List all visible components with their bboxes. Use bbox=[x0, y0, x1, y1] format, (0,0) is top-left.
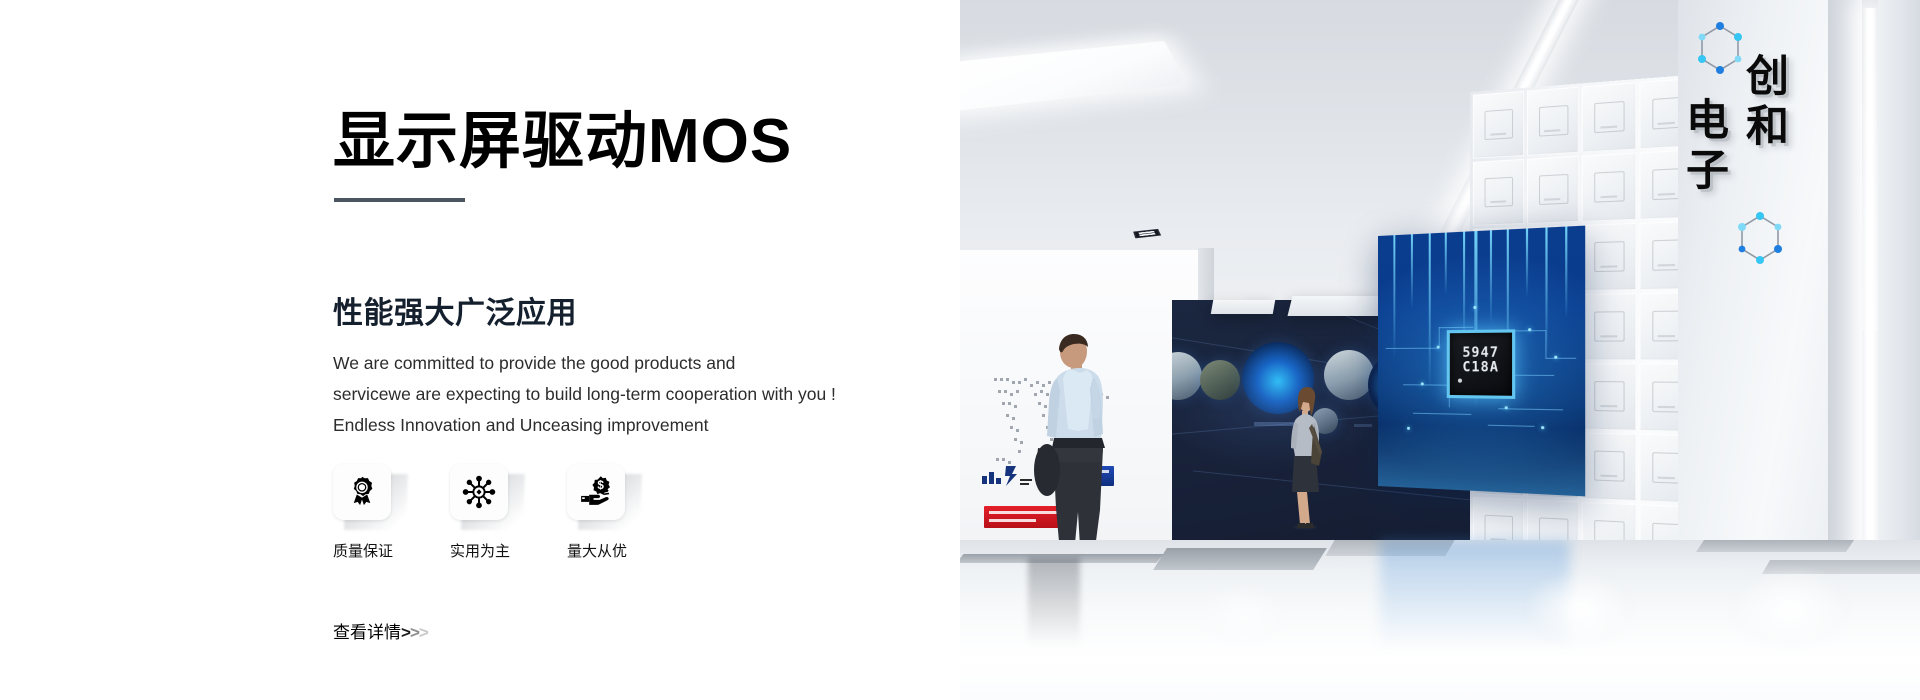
chevron-1-icon: > bbox=[401, 622, 410, 644]
left-text-panel: 显示屏驱动MOS 性能强大广泛应用 We are committed to pr… bbox=[0, 0, 960, 700]
feature-icon-tile bbox=[333, 464, 409, 526]
businessman-figure bbox=[1016, 330, 1120, 572]
feature-item-practical[interactable]: 实用为主 bbox=[450, 464, 567, 562]
chip-graphic: 5947 C18A bbox=[1447, 329, 1515, 399]
module-cell bbox=[1526, 87, 1578, 156]
signage-char: 子 bbox=[1686, 146, 1729, 196]
floor-reflection-person bbox=[1028, 558, 1080, 646]
molecule-hex-icon bbox=[1694, 18, 1746, 80]
businesswoman-figure bbox=[1282, 386, 1328, 531]
view-details-link[interactable]: 查看详情>>> bbox=[333, 622, 428, 644]
hand-money-icon: $ bbox=[567, 464, 625, 520]
module-cell bbox=[1526, 156, 1578, 224]
network-hub-icon bbox=[450, 464, 508, 520]
feature-icon-tile: $ bbox=[567, 464, 643, 526]
feature-label: 实用为主 bbox=[450, 542, 567, 562]
recessed-spotlight bbox=[1133, 229, 1161, 239]
skylight-panel-light bbox=[960, 41, 1188, 111]
svg-text:$: $ bbox=[597, 479, 604, 492]
feature-list: 质量保证 bbox=[333, 464, 684, 562]
view-details-label: 查看详情 bbox=[333, 622, 401, 644]
chip-pin-marker bbox=[1458, 378, 1462, 382]
hanging-panel bbox=[1211, 300, 1275, 314]
floor-inlay-strip bbox=[1696, 540, 1854, 552]
chevron-2-icon: > bbox=[410, 622, 419, 644]
signage-char: 电 bbox=[1686, 96, 1729, 146]
description-line-3: Endless Innovation and Unceasing improve… bbox=[333, 410, 893, 441]
title-divider bbox=[334, 198, 465, 202]
screen-bottom-glow bbox=[1378, 424, 1585, 496]
wall-circle-photo bbox=[1172, 352, 1202, 400]
module-cell bbox=[1582, 433, 1636, 501]
wall-circle-photo bbox=[1324, 350, 1374, 400]
sub-title: 性能强大广泛应用 bbox=[333, 295, 577, 333]
molecule-hex-icon bbox=[1734, 208, 1786, 270]
signage-char: 和 bbox=[1746, 102, 1789, 152]
wall-circle-photo bbox=[1200, 360, 1240, 400]
module-cell bbox=[1582, 293, 1636, 360]
signage-column-right: 创 和 bbox=[1746, 52, 1789, 152]
banner-content: 显示屏驱动MOS 性能强大广泛应用 We are committed to pr… bbox=[333, 0, 933, 700]
led-display-screen: 5947 C18A bbox=[1378, 226, 1585, 497]
module-cell bbox=[1473, 159, 1524, 226]
module-cell bbox=[1582, 363, 1636, 430]
floor-inlay-strip bbox=[1153, 548, 1327, 570]
feature-icon-tile bbox=[450, 464, 526, 526]
chip-code-line-1: 5947 bbox=[1462, 346, 1499, 361]
feature-label: 量大从优 bbox=[567, 542, 684, 562]
description-line-1: We are committed to provide the good pro… bbox=[333, 348, 893, 379]
floor-reflection-light bbox=[1526, 572, 1634, 646]
description-line-2: servicewe are expecting to build long-te… bbox=[333, 379, 893, 410]
feature-label: 质量保证 bbox=[333, 542, 450, 562]
signage-column-left: 电 子 bbox=[1686, 96, 1729, 196]
screen-surface: 5947 C18A bbox=[1378, 226, 1585, 497]
feature-item-quality[interactable]: 质量保证 bbox=[333, 464, 450, 562]
award-badge-icon bbox=[333, 464, 391, 520]
module-cell bbox=[1582, 223, 1636, 291]
signage-char: 创 bbox=[1746, 52, 1789, 102]
module-cell bbox=[1473, 91, 1524, 159]
floor-reflection-light bbox=[1200, 584, 1286, 642]
showroom-photo: 5947 C18A 创 和 bbox=[960, 0, 1920, 700]
hero-banner: 显示屏驱动MOS 性能强大广泛应用 We are committed to pr… bbox=[0, 0, 1920, 700]
chip-code-line-2: C18A bbox=[1462, 360, 1499, 375]
floor-reflection-light bbox=[1730, 568, 1850, 648]
chevron-3-icon: > bbox=[419, 622, 428, 644]
description-text: We are committed to provide the good pro… bbox=[333, 348, 893, 441]
page-title: 显示屏驱动MOS bbox=[333, 104, 792, 180]
hanging-panel bbox=[1288, 296, 1385, 316]
feature-item-bulk-discount[interactable]: $ 量大从优 bbox=[567, 464, 684, 562]
showroom-floor bbox=[960, 540, 1920, 700]
module-cell bbox=[1582, 82, 1636, 152]
module-cell bbox=[1582, 153, 1636, 222]
